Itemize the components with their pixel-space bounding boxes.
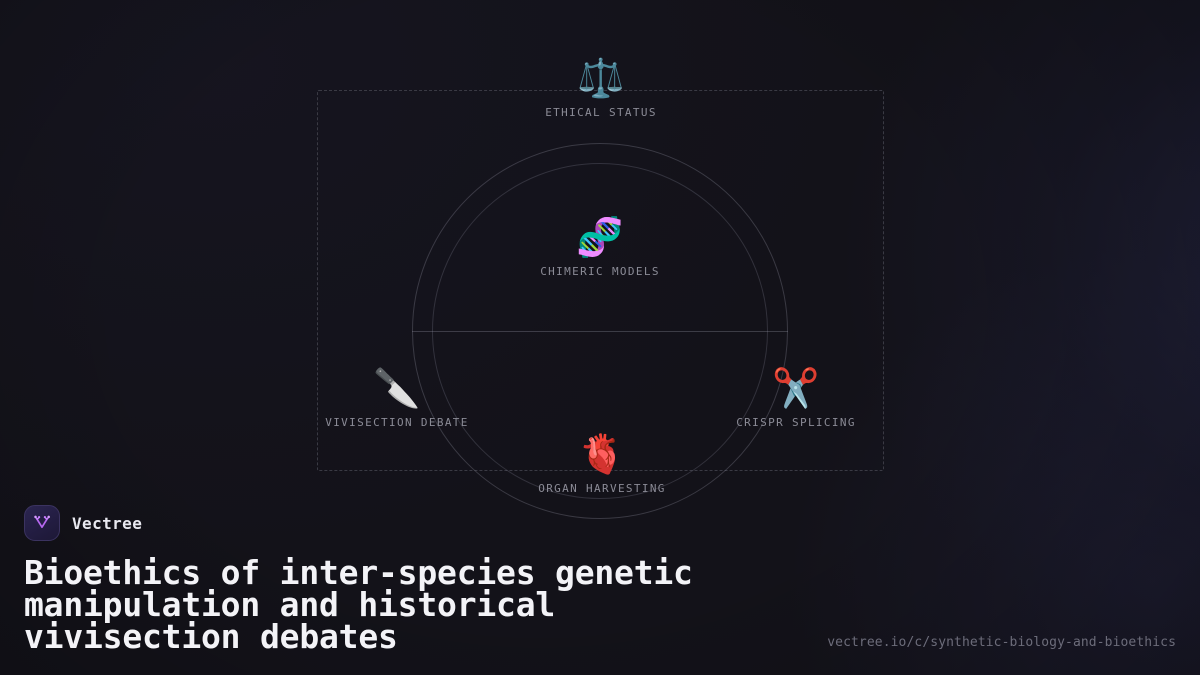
card-footer: Vectree Bioethics of inter-species genet… — [24, 505, 1176, 653]
diagram-node-label: CHIMERIC MODELS — [540, 265, 660, 278]
diagram-node-chimeric-models[interactable]: 🧬 CHIMERIC MODELS — [540, 215, 660, 278]
brand-row[interactable]: Vectree — [24, 505, 1176, 541]
source-url[interactable]: vectree.io/c/synthetic-biology-and-bioet… — [827, 635, 1176, 650]
brand-name: Vectree — [72, 514, 142, 533]
balance-scale-icon: ⚖️ — [577, 56, 624, 100]
concept-diagram: ⚖️ ETHICAL STATUS 🧬 CHIMERIC MODELS 🔪 VI… — [0, 0, 1200, 520]
diagram-node-label: ORGAN HARVESTING — [538, 482, 666, 495]
diagram-node-ethical-status[interactable]: ⚖️ ETHICAL STATUS — [545, 56, 657, 119]
diagram-node-crispr-splicing[interactable]: ✂️ CRISPR SPLICING — [736, 366, 856, 429]
headline-line: vivisection debates — [24, 621, 814, 653]
horizontal-axis-line — [412, 331, 788, 332]
diagram-node-label: CRISPR SPLICING — [736, 416, 856, 429]
scissors-icon: ✂️ — [772, 366, 819, 410]
vectree-branching-v-icon — [32, 513, 52, 533]
diagram-node-label: ETHICAL STATUS — [545, 106, 657, 119]
diagram-node-organ-harvesting[interactable]: 🫀 ORGAN HARVESTING — [538, 432, 666, 495]
vectree-logo-badge[interactable] — [24, 505, 60, 541]
page-title: Bioethics of inter-species genetic manip… — [24, 557, 814, 653]
kitchen-knife-icon: 🔪 — [373, 366, 420, 410]
dna-icon: 🧬 — [576, 215, 623, 259]
diagram-node-label: VIVISECTION DEBATE — [325, 416, 469, 429]
anatomical-heart-icon: 🫀 — [578, 432, 625, 476]
diagram-node-vivisection-debate[interactable]: 🔪 VIVISECTION DEBATE — [325, 366, 469, 429]
